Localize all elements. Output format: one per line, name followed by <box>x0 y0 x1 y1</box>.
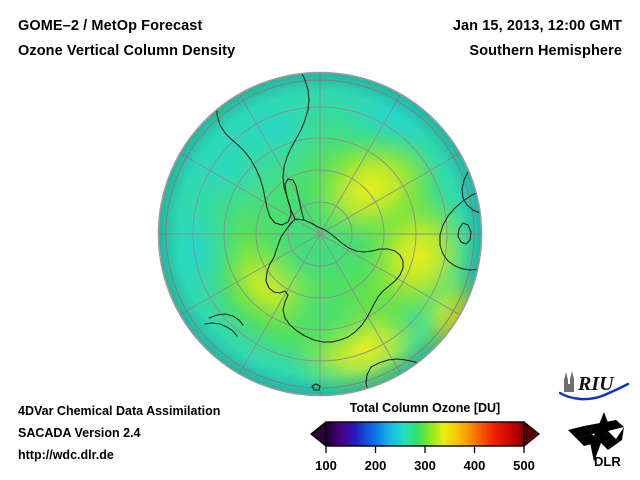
method-label: 4DVar Chemical Data Assimilation <box>18 400 318 422</box>
region-label: Southern Hemisphere <box>322 39 622 64</box>
header-left-block: GOME–2 / MetOp Forecast Ozone Vertical C… <box>18 14 348 64</box>
riu-logo: RIU <box>558 368 630 407</box>
colorbar-tick-labels: 100 200 300 400 500 <box>315 458 535 473</box>
header-right-block: Jan 15, 2013, 12:00 GMT Southern Hemisph… <box>322 14 622 64</box>
colorbar-tick-0: 100 <box>315 458 337 473</box>
dlr-logo: DLR <box>566 410 628 473</box>
colorbar-ticks <box>326 446 524 453</box>
source-url-label: http://wdc.dlr.de <box>18 444 318 466</box>
colorbar-svg: 100 200 300 400 500 <box>306 420 544 476</box>
dlr-logo-svg: DLR <box>566 410 628 468</box>
dlr-logo-text: DLR <box>594 454 621 468</box>
ozone-map-globe <box>157 71 483 397</box>
footer-text-block: 4DVar Chemical Data Assimilation SACADA … <box>18 400 318 466</box>
colorbar-gradient <box>326 422 524 446</box>
cathedral-spires-icon <box>564 371 574 392</box>
riu-logo-svg: RIU <box>558 368 630 402</box>
title-product: Ozone Vertical Column Density <box>18 39 348 64</box>
colorbar-block: Total Column Ozone [DU] <box>306 400 544 476</box>
limb-shading <box>159 73 481 395</box>
colorbar-tick-2: 300 <box>414 458 436 473</box>
coastline-tasmania <box>402 381 412 394</box>
colorbar-tick-4: 500 <box>513 458 535 473</box>
colorbar-under-arrow <box>311 422 326 446</box>
orthographic-projection-svg <box>157 71 483 397</box>
version-label: SACADA Version 2.4 <box>18 422 318 444</box>
colorbar-tick-1: 200 <box>365 458 387 473</box>
colorbar-tick-3: 400 <box>464 458 486 473</box>
colorbar-over-arrow <box>524 422 539 446</box>
timestamp-label: Jan 15, 2013, 12:00 GMT <box>322 14 622 39</box>
title-instrument: GOME–2 / MetOp Forecast <box>18 14 348 39</box>
colorbar-title: Total Column Ozone [DU] <box>306 400 544 416</box>
